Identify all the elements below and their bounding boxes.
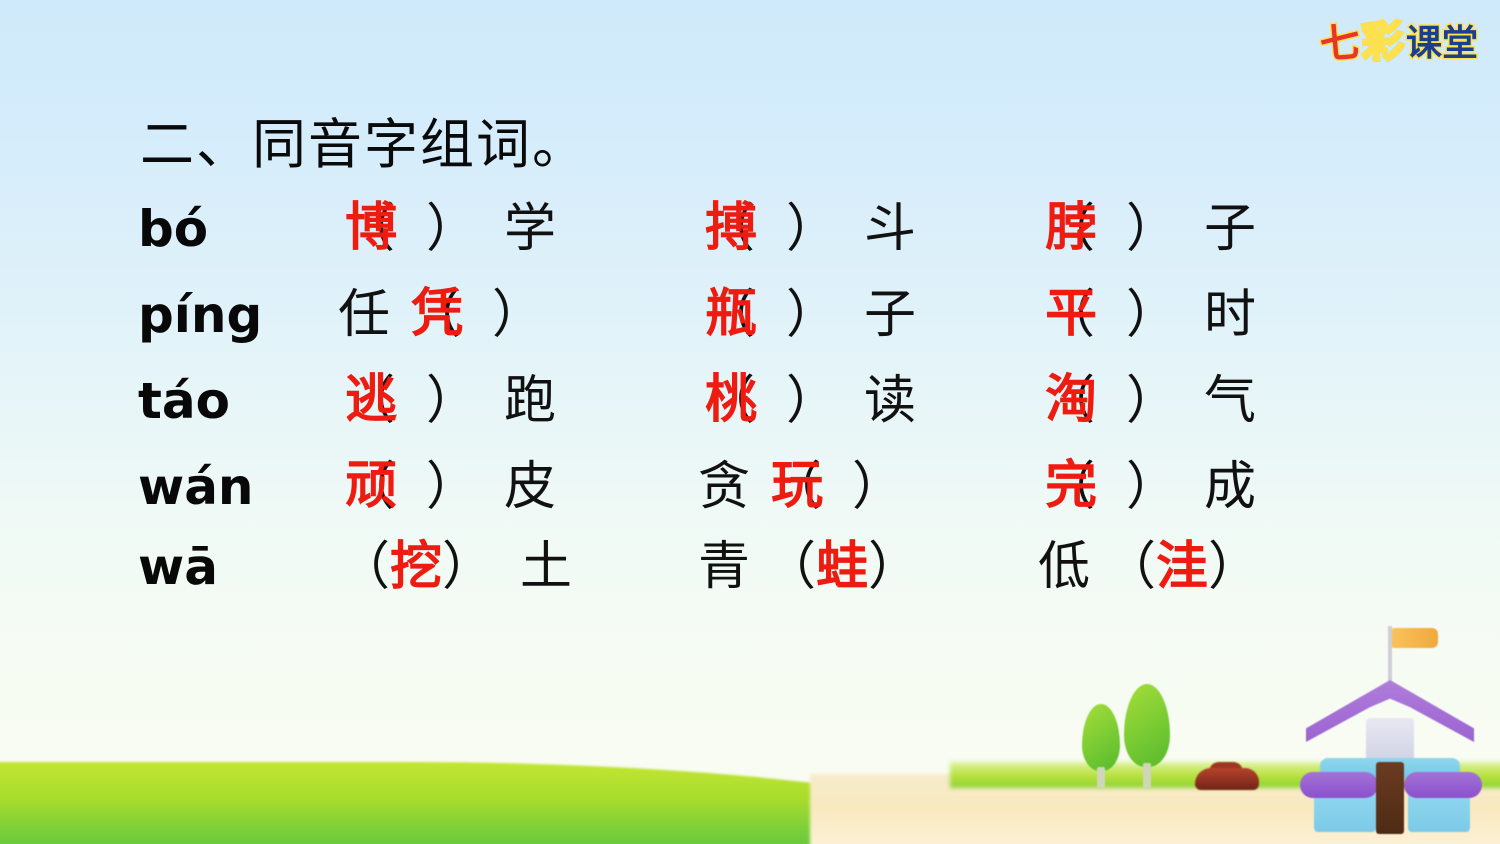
answer-character: 完 <box>1045 460 1097 512</box>
paren-close: ） <box>426 375 478 427</box>
exercise-cell: （挖）土 <box>338 541 698 593</box>
exercise-cell: 任（凭） <box>338 289 698 341</box>
answer-character: 洼 <box>1156 536 1208 597</box>
answer-character: 逃 <box>345 374 397 426</box>
pinyin-label: wā <box>138 542 338 592</box>
pinyin-label: wán <box>138 462 338 512</box>
answer-character: 搏 <box>705 202 757 254</box>
exercise-cell: 低（洼） <box>1038 541 1378 593</box>
paren-open: （ <box>338 537 390 597</box>
paren-close: ） <box>1126 203 1178 255</box>
suffix-character: 子 <box>1204 203 1256 255</box>
suffix-character: 跑 <box>504 375 556 427</box>
pinyin-label: píng <box>138 290 338 340</box>
exercise-row: wán（顽）皮贪（玩）（完）成 <box>138 444 1458 530</box>
suffix-character: 气 <box>1204 375 1256 427</box>
answer-blank[interactable]: （顽 <box>338 461 400 513</box>
paren-close: ） <box>868 537 920 597</box>
answer-character: 玩 <box>771 460 823 512</box>
paren-open: （ <box>764 537 816 597</box>
paren-close: ） <box>1126 461 1178 513</box>
answer-blank[interactable]: （玩 <box>764 461 826 513</box>
suffix-character: 读 <box>864 375 916 427</box>
paren-close: ） <box>426 461 478 513</box>
exercise-content: 二、同音字组词。 bó（博）学（搏）斗（脖）子píng任（凭）（瓶）子（平）时t… <box>0 0 1500 844</box>
pinyin-label: bó <box>138 204 338 254</box>
suffix-character: 学 <box>504 203 556 255</box>
paren-close: ） <box>1126 289 1178 341</box>
exercise-cell: （平）时 <box>1038 289 1378 341</box>
paren-close: ） <box>786 289 838 341</box>
answer-character: 瓶 <box>705 288 757 340</box>
exercise-row: táo（逃）跑（桃）读（淘）气 <box>138 358 1458 444</box>
answer-character: 桃 <box>705 374 757 426</box>
pinyin-label: táo <box>138 376 338 426</box>
suffix-character: 皮 <box>504 461 556 513</box>
exercise-row: bó（博）学（搏）斗（脖）子 <box>138 186 1458 272</box>
paren-close: ） <box>786 375 838 427</box>
paren-close: ） <box>442 537 494 597</box>
paren-close: ） <box>492 289 544 341</box>
exercise-row: píng任（凭）（瓶）子（平）时 <box>138 272 1458 358</box>
answer-blank[interactable]: （蛙） <box>764 541 920 593</box>
paren-close: ） <box>1208 537 1260 597</box>
exercise-cell: （脖）子 <box>1038 203 1378 255</box>
suffix-character: 时 <box>1204 289 1256 341</box>
answer-blank[interactable]: （洼） <box>1104 541 1260 593</box>
prefix-character: 青 <box>698 541 750 593</box>
slide-canvas: 七 彩 课堂 二、同音字组词。 bó（博）学（搏）斗（脖）子píng任（凭）（瓶… <box>0 0 1500 844</box>
suffix-character: 子 <box>864 289 916 341</box>
prefix-character: 贪 <box>698 461 750 513</box>
exercise-cell: （桃）读 <box>698 375 1038 427</box>
suffix-character: 成 <box>1204 461 1256 513</box>
exercise-cell: （瓶）子 <box>698 289 1038 341</box>
answer-blank[interactable]: （平 <box>1038 289 1100 341</box>
prefix-character: 任 <box>338 289 390 341</box>
paren-close: ） <box>786 203 838 255</box>
answer-character: 顽 <box>345 460 397 512</box>
answer-character: 挖 <box>390 536 442 597</box>
exercise-cell: （搏）斗 <box>698 203 1038 255</box>
paren-close: ） <box>426 203 478 255</box>
answer-blank[interactable]: （凭 <box>404 289 466 341</box>
exercise-cell: （顽）皮 <box>338 461 698 513</box>
prefix-character: 低 <box>1038 541 1090 593</box>
answer-character: 平 <box>1045 288 1097 340</box>
answer-character: 凭 <box>411 288 463 340</box>
answer-blank[interactable]: （搏 <box>698 203 760 255</box>
answer-blank[interactable]: （淘 <box>1038 375 1100 427</box>
exercise-row: wā（挖）土青（蛙）低（洼） <box>138 524 1458 610</box>
answer-blank[interactable]: （挖） <box>338 541 494 593</box>
answer-character: 蛙 <box>816 536 868 597</box>
answer-blank[interactable]: （桃 <box>698 375 760 427</box>
exercise-cell: （完）成 <box>1038 461 1378 513</box>
suffix-character: 土 <box>520 541 572 593</box>
answer-character: 脖 <box>1045 202 1097 254</box>
exercise-cell: 青（蛙） <box>698 541 1038 593</box>
answer-blank[interactable]: （逃 <box>338 375 400 427</box>
page-title: 二、同音字组词。 <box>140 100 588 179</box>
answer-character: 博 <box>345 202 397 254</box>
paren-close: ） <box>852 461 904 513</box>
answer-blank[interactable]: （脖 <box>1038 203 1100 255</box>
exercise-cell: （逃）跑 <box>338 375 698 427</box>
answer-blank[interactable]: （完 <box>1038 461 1100 513</box>
paren-close: ） <box>1126 375 1178 427</box>
exercise-cell: （淘）气 <box>1038 375 1378 427</box>
exercise-cell: （博）学 <box>338 203 698 255</box>
answer-blank[interactable]: （瓶 <box>698 289 760 341</box>
suffix-character: 斗 <box>864 203 916 255</box>
paren-open: （ <box>1104 537 1156 597</box>
exercise-cell: 贪（玩） <box>698 461 1038 513</box>
answer-character: 淘 <box>1045 374 1097 426</box>
answer-blank[interactable]: （博 <box>338 203 400 255</box>
